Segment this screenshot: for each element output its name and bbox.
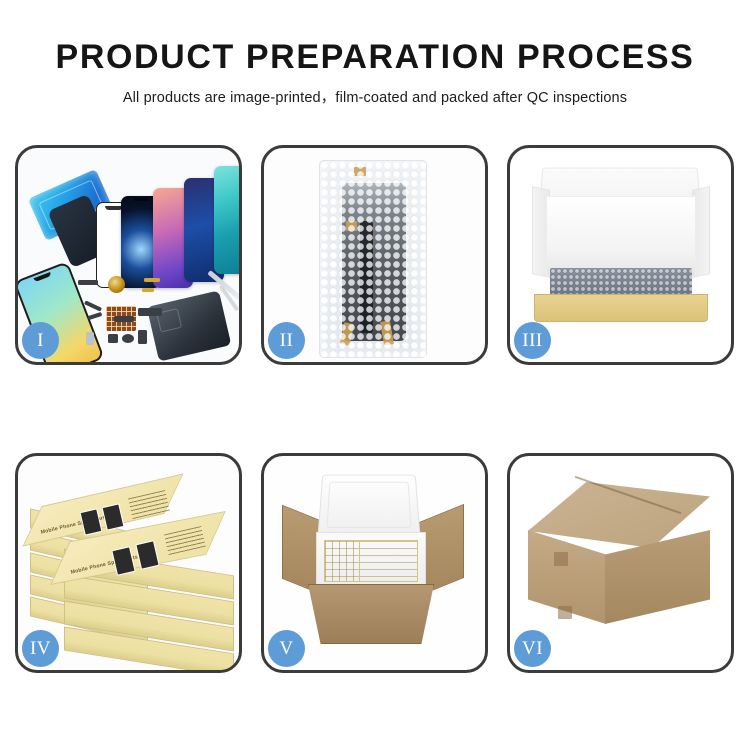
step-panel-2[interactable]: II Screen assembly sealed in bubble wrap… — [261, 145, 488, 365]
part-battery-connector-icon — [78, 280, 98, 285]
step-badge-3: III — [514, 322, 551, 359]
step-panel-5[interactable]: V Boxes packed into foam lined carton — [261, 453, 488, 673]
carton-handle-tab-bottom-icon — [558, 606, 572, 619]
part-vibration-motor-icon — [138, 330, 147, 344]
part-gold-bracket-icon — [142, 288, 154, 292]
part-flex-cable-icon — [84, 300, 102, 311]
process-step-grid: I Mobile phone screens, display assembli… — [15, 145, 735, 673]
wrapped-flex-cable-icon — [360, 221, 373, 333]
phone-backplate-icon — [147, 290, 232, 361]
part-ribbon-icon — [88, 312, 103, 320]
step-panel-1[interactable]: I Mobile phone screens, display assembli… — [15, 145, 242, 365]
tape-middle-icon — [346, 221, 357, 231]
bubble-wrap-pouch-icon — [319, 160, 427, 358]
page-header: PRODUCT PREPARATION PROCESS All products… — [0, 0, 750, 107]
carton-body-icon — [308, 584, 434, 644]
sealed-carton-right-face-icon — [605, 530, 710, 624]
step-panel-3[interactable]: III Wrapped parts placed into foam lined… — [507, 145, 734, 365]
foam-sheet-icon — [546, 196, 696, 276]
part-gold-flex-icon — [144, 278, 160, 282]
step-badge-6: VI — [514, 630, 551, 667]
part-speaker-icon — [122, 334, 134, 343]
step-badge-4: IV — [22, 630, 59, 667]
inner-box-front-icon — [534, 294, 708, 322]
step-badge-1: I — [22, 322, 59, 359]
step-panel-6[interactable]: VI Sealed shipping carton ready for disp… — [507, 453, 734, 673]
page-title: PRODUCT PREPARATION PROCESS — [0, 0, 750, 76]
retail-box-stack: Mobile Phone Spare Parts Mobile Phone Sp… — [30, 478, 234, 658]
wrapped-screen-assembly-icon — [342, 183, 406, 341]
step-badge-5: V — [268, 630, 305, 667]
foam-lid-icon — [317, 475, 420, 537]
step-badge-2: II — [268, 322, 305, 359]
phone-display-d-icon — [214, 166, 239, 274]
carton-handle-tab-top-icon — [554, 552, 568, 566]
page-subtitle: All products are image-printed，film-coat… — [0, 76, 750, 107]
packed-retail-boxes-side-icon — [324, 540, 360, 582]
tape-top-icon — [354, 167, 366, 176]
step-panel-4[interactable]: Mobile Phone Spare Parts Mobile Phone Sp… — [15, 453, 242, 673]
part-shield-can-icon — [114, 316, 134, 322]
part-camera-module-icon — [108, 334, 118, 343]
part-logic-board-icon — [138, 308, 162, 316]
speaker-coil-icon — [108, 276, 125, 293]
part-sim-tray-icon — [86, 332, 94, 345]
